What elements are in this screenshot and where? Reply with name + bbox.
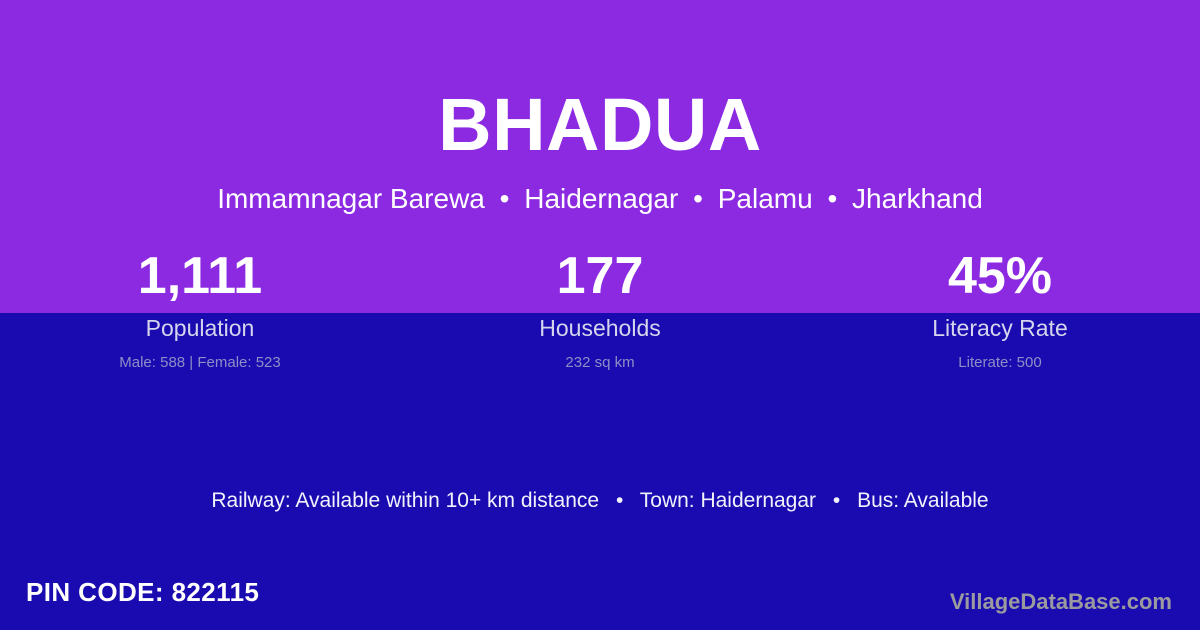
breadcrumb-item-district: Palamu xyxy=(718,183,813,214)
amenity-separator-icon: • xyxy=(605,489,634,512)
breadcrumb-item-state: Jharkhand xyxy=(852,183,983,214)
amenities-summary: Railway: Available within 10+ km distanc… xyxy=(0,486,1200,516)
stat-literacy-rate: 45% Literacy Rate Literate: 500 xyxy=(800,246,1200,374)
breadcrumb-separator-icon: • xyxy=(493,183,517,214)
amenity-bus: Bus: Available xyxy=(857,489,989,512)
site-brand-label: VillageDataBase.com xyxy=(950,588,1172,616)
breadcrumb-separator-icon: • xyxy=(820,183,844,214)
amenity-separator-icon: • xyxy=(822,489,851,512)
amenity-town: Town: Haidernagar xyxy=(640,489,816,512)
stat-label: Literacy Rate xyxy=(800,313,1200,343)
page-title: BHADUA xyxy=(0,82,1200,168)
stat-value: 177 xyxy=(400,246,800,306)
breadcrumb-separator-icon: • xyxy=(686,183,710,214)
stat-sublabel: Literate: 500 xyxy=(800,352,1200,374)
breadcrumb-item-village: Immamnagar Barewa xyxy=(217,183,485,214)
statistics-row: 1,111 Population Male: 588 | Female: 523… xyxy=(0,246,1200,374)
stat-sublabel: 232 sq km xyxy=(400,352,800,374)
stat-sublabel: Male: 588 | Female: 523 xyxy=(0,352,400,374)
amenity-railway: Railway: Available within 10+ km distanc… xyxy=(211,489,599,512)
stat-population: 1,111 Population Male: 588 | Female: 523 xyxy=(0,246,400,374)
stat-value: 1,111 xyxy=(0,246,400,306)
village-info-card: BHADUA Immamnagar Barewa • Haidernagar •… xyxy=(0,0,1200,630)
stat-value: 45% xyxy=(800,246,1200,306)
pin-code-label: PIN CODE: 822115 xyxy=(26,576,259,608)
breadcrumb-item-block: Haidernagar xyxy=(524,183,678,214)
stat-households: 177 Households 232 sq km xyxy=(400,246,800,374)
breadcrumb: Immamnagar Barewa • Haidernagar • Palamu… xyxy=(0,181,1200,217)
stat-label: Population xyxy=(0,313,400,343)
stat-label: Households xyxy=(400,313,800,343)
